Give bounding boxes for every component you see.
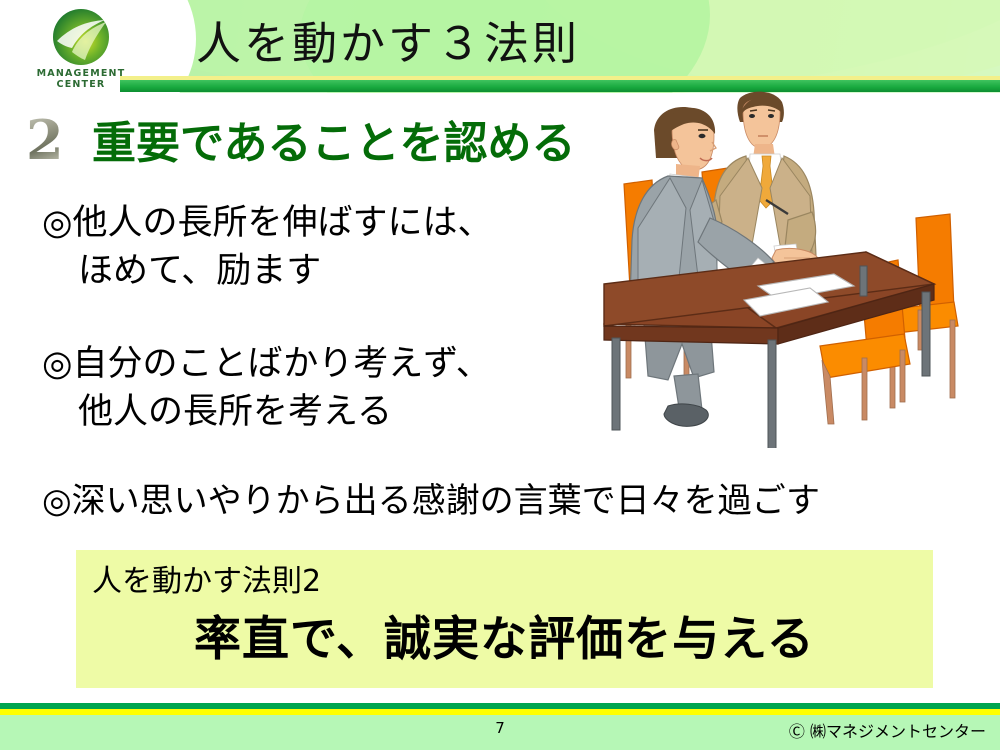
bullet-2-text-2: 他人の長所を考える [42,388,491,436]
bullet-2-line-1: ◎自分のことばかり考えず、 [42,340,491,388]
bullet-marker-icon: ◎ [42,344,73,384]
slide-title: 人を動かす３法則 [196,7,580,72]
bullet-1-line-1: ◎他人の長所を伸ばすには、 [42,199,493,247]
header-banner: 人を動かす３法則 [0,0,1000,93]
logo-text-center: CENTER [27,79,135,90]
bullet-2-text-1: 自分のことばかり考えず、 [73,344,491,384]
green-circle-swoosh-logo-icon [52,8,110,66]
bullet-3-line-1: ◎深い思いやりから出る感謝の言葉で日々を過ごす [42,477,820,525]
logo-text-management: MANAGEMENT [27,68,135,79]
section-number: 2 [26,110,64,170]
bullet-marker-icon: ◎ [42,481,72,521]
highlight-summary-box: 人を動かす法則2 率直で、誠実な評価を与える [76,550,933,688]
highlight-box-main-text: 率直で、誠実な評価を与える [194,600,815,669]
bullet-item-1: ◎他人の長所を伸ばすには、 ほめて、励ます [42,199,493,295]
bullet-marker-icon: ◎ [42,203,73,243]
bullet-item-2: ◎自分のことばかり考えず、 他人の長所を考える [42,340,491,436]
copyright-notice: Ⓒ ㈱マネジメントセンター [789,718,986,742]
bullet-1-text-1: 他人の長所を伸ばすには、 [73,203,493,243]
two-businessmen-at-meeting-table-illustration [598,88,998,448]
bullet-1-text-2: ほめて、励ます [42,247,493,295]
brand-logo: MANAGEMENT CENTER [27,8,135,100]
section-heading-text: 重要であることを認める [92,116,576,172]
section-heading: 2 重要であることを認める [26,116,666,180]
slide-footer: 7 Ⓒ ㈱マネジメントセンター [0,703,1000,750]
slide-canvas: 人を動かす３法則 MANAGEMENT CENTER 2 重要である [0,0,1000,750]
bullet-item-3: ◎深い思いやりから出る感謝の言葉で日々を過ごす [42,477,820,525]
bullet-3-text-1: 深い思いやりから出る感謝の言葉で日々を過ごす [72,481,820,521]
highlight-box-subtitle: 人を動かす法則2 [92,556,321,600]
